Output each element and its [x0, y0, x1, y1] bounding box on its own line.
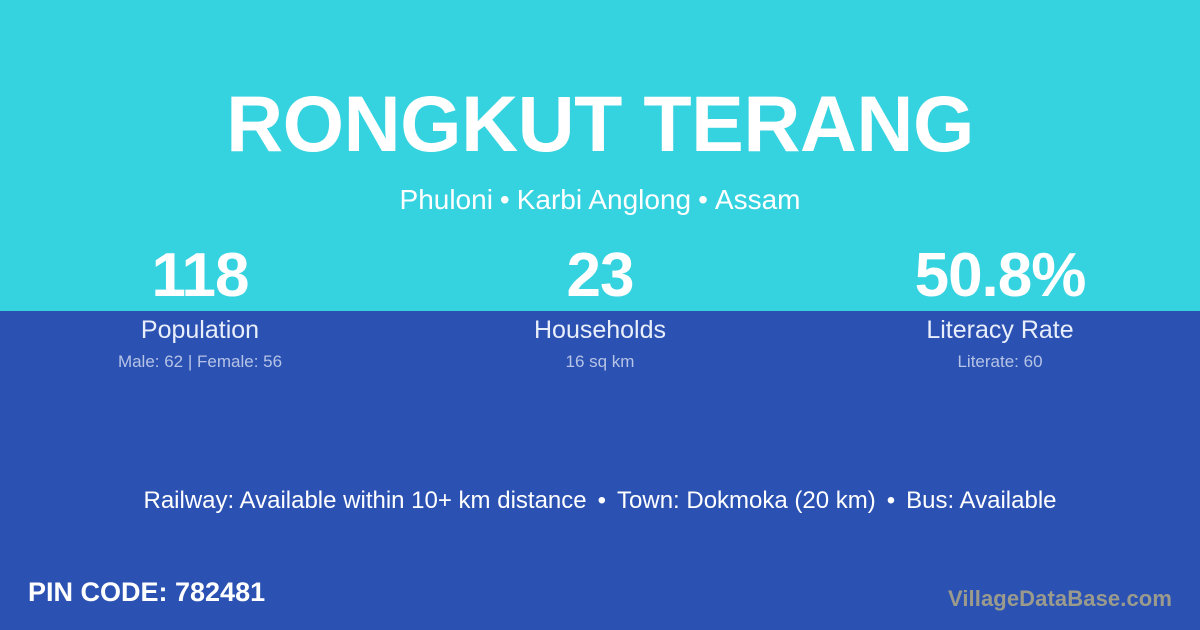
- breadcrumb-separator-icon: •: [691, 184, 715, 215]
- stat-value: 50.8%: [800, 240, 1200, 312]
- amenities-line: Railway: Available within 10+ km distanc…: [0, 486, 1200, 515]
- page-title: RONGKUT TERANG: [0, 84, 1200, 163]
- stat-sublabel: Literate: 60: [800, 352, 1200, 372]
- stat-population: 118 Population Male: 62 | Female: 56: [0, 240, 400, 372]
- amenity-railway: Railway: Available within 10+ km distanc…: [143, 487, 586, 514]
- stat-label: Households: [400, 315, 800, 345]
- breadcrumb-separator-icon: •: [493, 184, 517, 215]
- breadcrumb-block: Phuloni: [400, 184, 493, 215]
- stat-sublabel: Male: 62 | Female: 56: [0, 352, 400, 372]
- amenity-separator-icon: •: [587, 487, 617, 514]
- amenity-town: Town: Dokmoka (20 km): [617, 487, 876, 514]
- village-info-card: RONGKUT TERANG Phuloni•Karbi Anglong•Ass…: [0, 0, 1200, 630]
- amenity-bus: Bus: Available: [906, 487, 1056, 514]
- stat-label: Population: [0, 315, 400, 345]
- pin-code: PIN CODE: 782481: [28, 576, 265, 608]
- stat-label: Literacy Rate: [800, 315, 1200, 345]
- stats-row: 118 Population Male: 62 | Female: 56 23 …: [0, 240, 1200, 372]
- stat-households: 23 Households 16 sq km: [400, 240, 800, 372]
- location-breadcrumb: Phuloni•Karbi Anglong•Assam: [0, 183, 1200, 217]
- stat-literacy-rate: 50.8% Literacy Rate Literate: 60: [800, 240, 1200, 372]
- breadcrumb-state: Assam: [715, 184, 801, 215]
- stat-value: 118: [0, 240, 400, 312]
- stat-sublabel: 16 sq km: [400, 352, 800, 372]
- breadcrumb-district: Karbi Anglong: [517, 184, 691, 215]
- site-branding: VillageDataBase.com: [948, 586, 1172, 612]
- amenity-separator-icon: •: [876, 487, 906, 514]
- stat-value: 23: [400, 240, 800, 312]
